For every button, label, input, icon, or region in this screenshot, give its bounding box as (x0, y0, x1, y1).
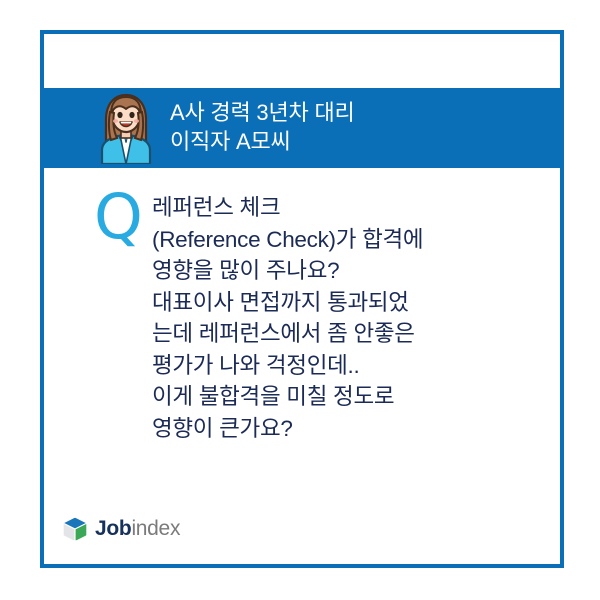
jobindex-wordmark: Jobindex (95, 517, 180, 541)
question-line: 이게 불합격을 미칠 정도로 (152, 381, 544, 413)
question-body: Q 레퍼런스 체크 (Reference Check)가 합격에 영향을 많이 … (44, 168, 560, 564)
profile-text-block: A사 경력 3년차 대리 이직자 A모씨 (170, 99, 355, 156)
logo-text-index: index (131, 517, 180, 540)
question-line: 영향을 많이 주나요? (152, 255, 544, 287)
profile-line-2: 이직자 A모씨 (170, 128, 355, 157)
profile-header-band: A사 경력 3년차 대리 이직자 A모씨 (44, 88, 560, 168)
question-card: A사 경력 3년차 대리 이직자 A모씨 Q 레퍼런스 체크 (Referenc… (40, 30, 564, 568)
question-text: 레퍼런스 체크 (Reference Check)가 합격에 영향을 많이 주나… (152, 188, 560, 444)
woman-avatar-icon (98, 92, 154, 164)
jobindex-cube-logo-icon (62, 516, 88, 542)
question-line: 평가가 나와 걱정인데.. (152, 350, 544, 382)
question-line: 대표이사 면접까지 통과되었 (152, 287, 544, 319)
footer-logo: Jobindex (44, 516, 560, 564)
question-line: 레퍼런스 체크 (152, 192, 544, 224)
question-line: 는데 레퍼런스에서 좀 안좋은 (152, 318, 544, 350)
question-row: Q 레퍼런스 체크 (Reference Check)가 합격에 영향을 많이 … (44, 168, 560, 444)
logo-text-job: Job (95, 517, 131, 540)
question-marker: Q (94, 188, 152, 444)
question-line: (Reference Check)가 합격에 (152, 224, 544, 256)
question-line: 영향이 큰가요? (152, 413, 544, 445)
card-top-spacer (44, 34, 560, 88)
profile-line-1: A사 경력 3년차 대리 (170, 99, 355, 128)
